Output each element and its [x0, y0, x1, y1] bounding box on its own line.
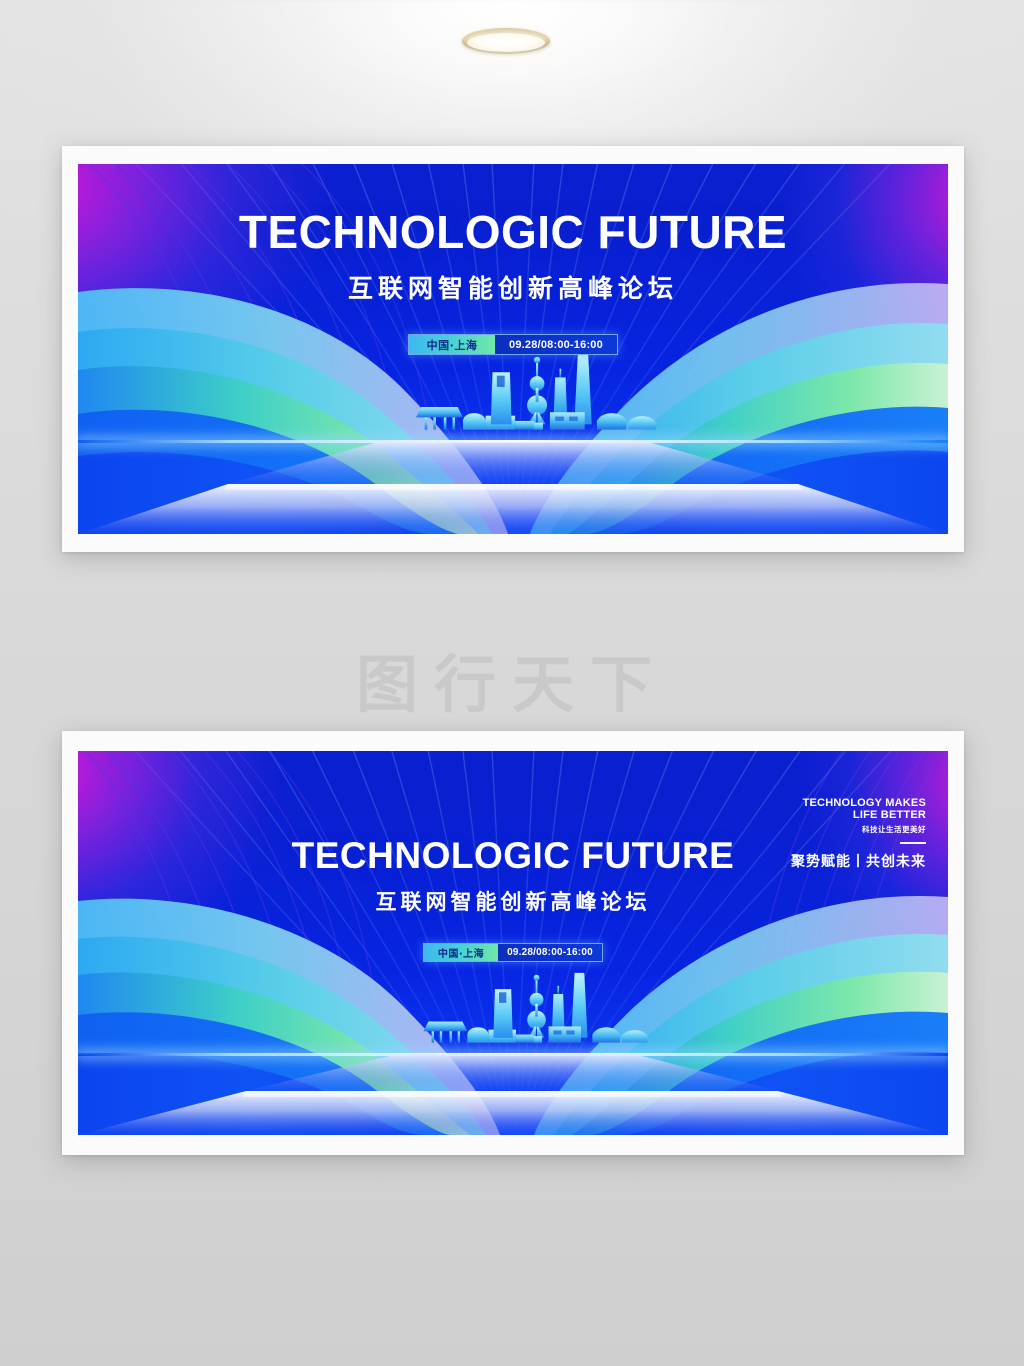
event-info-badge: 中国·上海 09.28/08:00-16:00 [408, 334, 618, 355]
perspective-platform [78, 438, 948, 534]
perspective-platform [78, 1051, 948, 1135]
event-location: 中国·上海 [409, 335, 495, 354]
ceiling-downlight [462, 28, 550, 54]
poster-subtitle: 互联网智能创新高峰论坛 [78, 269, 948, 305]
poster-title: TECHNOLOGIC FUTURE [78, 205, 948, 259]
poster-one: TECHNOLOGIC FUTURE 互联网智能创新高峰论坛 中国·上海 09.… [78, 164, 948, 534]
slogan-cn-big: 聚势赋能丨共创未来 [791, 851, 926, 871]
lamp-glass [467, 33, 545, 52]
slogan-en-line2: LIFE BETTER [791, 809, 926, 821]
event-datetime: 09.28/08:00-16:00 [495, 335, 617, 354]
poster-subtitle: 互联网智能创新高峰论坛 [78, 886, 948, 916]
slogan-en-line1: TECHNOLOGY MAKES [791, 797, 926, 809]
event-info-badge: 中国·上海 09.28/08:00-16:00 [423, 943, 603, 962]
event-datetime: 09.28/08:00-16:00 [498, 944, 602, 961]
watermark: 图行天下 [0, 634, 1024, 724]
slogan-divider [900, 842, 926, 844]
slogan-cn-small: 科技让生活更美好 [791, 824, 926, 835]
slogan-block: TECHNOLOGY MAKES LIFE BETTER 科技让生活更美好 聚势… [791, 797, 926, 871]
poster-frame-one: TECHNOLOGIC FUTURE 互联网智能创新高峰论坛 中国·上海 09.… [62, 146, 964, 552]
poster-frame-two: TECHNOLOGIC FUTURE 互联网智能创新高峰论坛 中国·上海 09.… [62, 731, 964, 1155]
poster-two: TECHNOLOGIC FUTURE 互联网智能创新高峰论坛 中国·上海 09.… [78, 751, 948, 1135]
poster-one-title-block: TECHNOLOGIC FUTURE 互联网智能创新高峰论坛 [78, 205, 948, 305]
event-location: 中国·上海 [424, 944, 498, 961]
